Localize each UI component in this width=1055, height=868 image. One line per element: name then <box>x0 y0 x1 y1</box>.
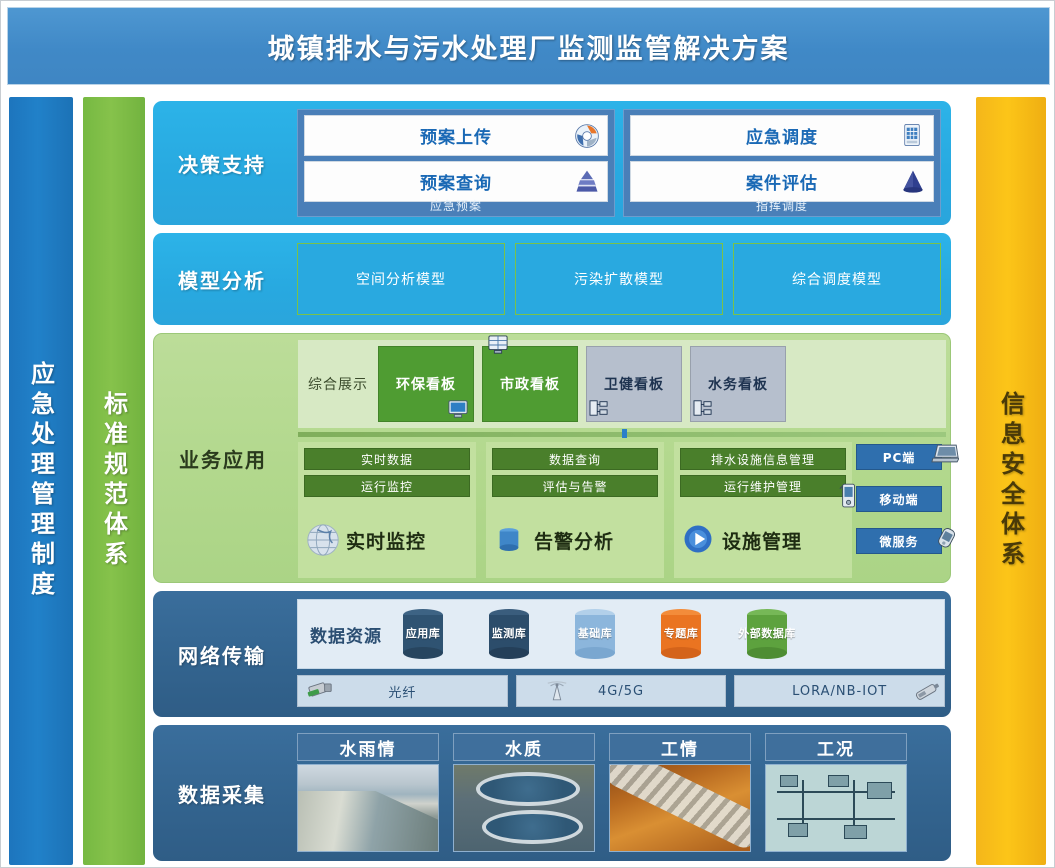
data-item-label: 工情 <box>661 735 699 760</box>
laptop-icon <box>931 443 957 463</box>
transport-link-cellular[interactable]: 4G/5G <box>516 675 727 707</box>
transport-link-fiber[interactable]: 光纤 <box>297 675 508 707</box>
data-item-label: 水雨情 <box>340 735 397 760</box>
decision-card-label: 案件评估 <box>746 169 818 194</box>
feature-label: 告警分析 <box>534 527 614 554</box>
layer-business-application: 业务应用 综合展示 环保看板 <box>153 333 951 583</box>
antenna-tower-icon <box>545 681 575 701</box>
business-feature-realtime-monitor[interactable]: 实时监控 <box>304 508 470 572</box>
model-box-pollution[interactable]: 污染扩散模型 <box>515 243 723 315</box>
blue-cone-icon <box>899 168 927 196</box>
network-node-icon <box>589 399 611 419</box>
data-item-header: 工况 <box>765 733 907 761</box>
business-column-monitoring: 实时数据 运行监控 <box>298 442 476 578</box>
layer-business-label: 业务应用 <box>154 334 292 582</box>
data-item-header: 工情 <box>609 733 751 761</box>
business-columns: 实时数据 运行监控 <box>298 442 946 578</box>
business-column-query: 数据查询 评估与告警 <box>486 442 664 578</box>
data-item-working-condition[interactable]: 工况 <box>765 733 907 853</box>
chip-label: 运行监控 <box>361 478 413 495</box>
data-item-header: 水质 <box>453 733 595 761</box>
decision-card-emergency-dispatch[interactable]: 应急调度 <box>630 115 934 156</box>
terminal-label: 微服务 <box>879 533 918 550</box>
page-title: 城镇排水与污水处理厂监测监管解决方案 <box>268 27 790 66</box>
architecture-diagram: 城镇排水与污水处理厂监测监管解决方案 应急处理管理制度 标准规范体系 信息安全体… <box>0 0 1055 868</box>
layer-data-collection: 数据采集 水雨情 水质 <box>153 725 951 861</box>
kanban-water-affairs[interactable]: 水务看板 <box>690 346 786 422</box>
scada-schematic-photo <box>765 764 907 852</box>
model-box-spatial[interactable]: 空间分析模型 <box>297 243 505 315</box>
database-thematic[interactable]: 专题库 <box>652 607 710 661</box>
decision-group-name: 应急预案 <box>298 197 614 214</box>
database-basic[interactable]: 基础库 <box>566 607 624 661</box>
fiber-connector-icon <box>304 681 334 701</box>
data-item-label: 水质 <box>505 735 543 760</box>
transport-links: 光纤 4G/5G LORA/NB-IOT <box>297 675 945 707</box>
sedimentation-tanks-photo <box>453 764 595 852</box>
divider-marker <box>622 429 627 438</box>
transport-link-lora[interactable]: LORA/NB-IOT <box>734 675 945 707</box>
model-box-label: 污染扩散模型 <box>574 269 664 289</box>
transport-link-label: 4G/5G <box>598 684 644 699</box>
terminal-mobile[interactable]: 移动端 <box>856 486 942 512</box>
decision-card-plan-upload[interactable]: 预案上传 <box>304 115 608 156</box>
globe-icon <box>304 521 342 559</box>
data-item-label: 工况 <box>817 735 855 760</box>
terminal-list: PC端 移动端 <box>856 444 942 570</box>
pillar-standard-system: 标准规范体系 <box>83 97 145 865</box>
kanban-label: 市政看板 <box>500 374 560 394</box>
database-cylinder-icon <box>492 521 530 559</box>
chip-label: 实时数据 <box>361 451 413 468</box>
database-label: 应用库 <box>406 628 441 640</box>
database-label: 外部数据库 <box>738 628 796 640</box>
layered-pyramid-icon <box>573 168 601 196</box>
layer-data-label: 数据采集 <box>153 725 291 861</box>
business-chip-operation-maintenance[interactable]: 运行维护管理 <box>680 475 846 497</box>
business-chip-data-query[interactable]: 数据查询 <box>492 448 658 470</box>
pipeline-trench-photo <box>609 764 751 852</box>
comprehensive-display-row: 综合展示 环保看板 市政看板 <box>298 340 946 428</box>
refresh-cycle-icon <box>573 122 601 150</box>
decision-card-label: 应急调度 <box>746 123 818 148</box>
feature-label: 设施管理 <box>722 527 802 554</box>
business-chip-assessment-alarm[interactable]: 评估与告警 <box>492 475 658 497</box>
business-feature-facility-management[interactable]: 设施管理 <box>680 508 846 572</box>
database-label: 专题库 <box>664 628 699 640</box>
data-collection-items: 水雨情 水质 工情 <box>297 733 945 853</box>
layer-network-transmission: 网络传输 数据资源 应用库 <box>153 591 951 717</box>
data-item-rainfall[interactable]: 水雨情 <box>297 733 439 853</box>
kanban-health[interactable]: 卫健看板 <box>586 346 682 422</box>
database-monitoring[interactable]: 监测库 <box>480 607 538 661</box>
decision-card-case-assessment[interactable]: 案件评估 <box>630 161 934 202</box>
kanban-municipal[interactable]: 市政看板 <box>482 346 578 422</box>
model-box-label: 空间分析模型 <box>356 269 446 289</box>
chip-label: 排水设施信息管理 <box>711 451 815 468</box>
chip-label: 评估与告警 <box>542 478 607 495</box>
business-chip-operation-monitoring[interactable]: 运行监控 <box>304 475 470 497</box>
page-title-bar: 城镇排水与污水处理厂监测监管解决方案 <box>7 7 1050 85</box>
layer-stack: 决策支持 预案上传 预案查询 <box>153 97 951 865</box>
decision-card-label: 预案查询 <box>420 169 492 194</box>
transport-link-label: 光纤 <box>388 682 416 701</box>
mobile-phone-icon <box>839 483 865 503</box>
pillar-standard-label: 标准规范体系 <box>97 391 132 571</box>
river-embankment-photo <box>297 764 439 852</box>
lora-device-icon <box>912 681 942 701</box>
decision-group-emergency-plan: 预案上传 预案查询 <box>297 109 615 217</box>
decision-card-label: 预案上传 <box>420 123 492 148</box>
data-item-project-status[interactable]: 工情 <box>609 733 751 853</box>
business-column-facility: 排水设施信息管理 运行维护管理 <box>674 442 852 578</box>
model-box-dispatch[interactable]: 综合调度模型 <box>733 243 941 315</box>
comprehensive-display-label: 综合展示 <box>298 374 378 394</box>
kanban-label: 水务看板 <box>708 374 768 394</box>
decision-group-command-dispatch: 应急调度 案件评估 <box>623 109 941 217</box>
layer-decision-support: 决策支持 预案上传 预案查询 <box>153 101 951 225</box>
layer-network-label: 网络传输 <box>153 591 291 717</box>
play-circle-icon <box>680 521 718 559</box>
terminal-label: PC端 <box>883 449 916 466</box>
kanban-environment[interactable]: 环保看板 <box>378 346 474 422</box>
business-inner: 综合展示 环保看板 市政看板 <box>298 340 946 578</box>
terminal-pc[interactable]: PC端 <box>856 444 942 470</box>
monitor-icon <box>447 399 469 419</box>
business-feature-alarm-analysis[interactable]: 告警分析 <box>492 508 658 572</box>
data-resource-label: 数据资源 <box>298 622 394 647</box>
pillar-emergency-management: 应急处理管理制度 <box>9 97 73 865</box>
kanban-label: 环保看板 <box>396 374 456 394</box>
layer-decision-label: 决策支持 <box>153 101 291 225</box>
transport-link-label: LORA/NB-IOT <box>792 684 887 699</box>
grid-calculator-icon <box>899 122 927 150</box>
smartphone-icon <box>933 527 959 547</box>
terminal-label: 移动端 <box>879 491 918 508</box>
network-node-icon <box>693 399 715 419</box>
layer-model-analysis: 模型分析 空间分析模型 污染扩散模型 综合调度模型 <box>153 233 951 325</box>
chip-label: 数据查询 <box>549 451 601 468</box>
data-item-water-quality[interactable]: 水质 <box>453 733 595 853</box>
monitor-icon <box>487 335 509 355</box>
model-box-label: 综合调度模型 <box>792 269 882 289</box>
pillar-emergency-label: 应急处理管理制度 <box>24 361 59 601</box>
data-item-header: 水雨情 <box>297 733 439 761</box>
feature-label: 实时监控 <box>346 527 426 554</box>
business-divider <box>298 432 946 437</box>
terminal-microservice[interactable]: 微服务 <box>856 528 942 554</box>
decision-group-name: 指挥调度 <box>624 197 940 214</box>
kanban-label: 卫健看板 <box>604 374 664 394</box>
database-label: 基础库 <box>578 628 613 640</box>
layer-model-label: 模型分析 <box>153 233 291 325</box>
pillar-security-label: 信息安全体系 <box>994 391 1029 571</box>
chip-label: 运行维护管理 <box>724 478 802 495</box>
pillar-information-security: 信息安全体系 <box>976 97 1046 865</box>
business-chip-drainage-facility-info[interactable]: 排水设施信息管理 <box>680 448 846 470</box>
business-chip-realtime-data[interactable]: 实时数据 <box>304 448 470 470</box>
decision-card-plan-query[interactable]: 预案查询 <box>304 161 608 202</box>
database-application[interactable]: 应用库 <box>394 607 452 661</box>
database-external[interactable]: 外部数据库 <box>738 607 796 661</box>
data-resource-row: 数据资源 应用库 监测库 <box>297 599 945 669</box>
database-label: 监测库 <box>492 628 527 640</box>
